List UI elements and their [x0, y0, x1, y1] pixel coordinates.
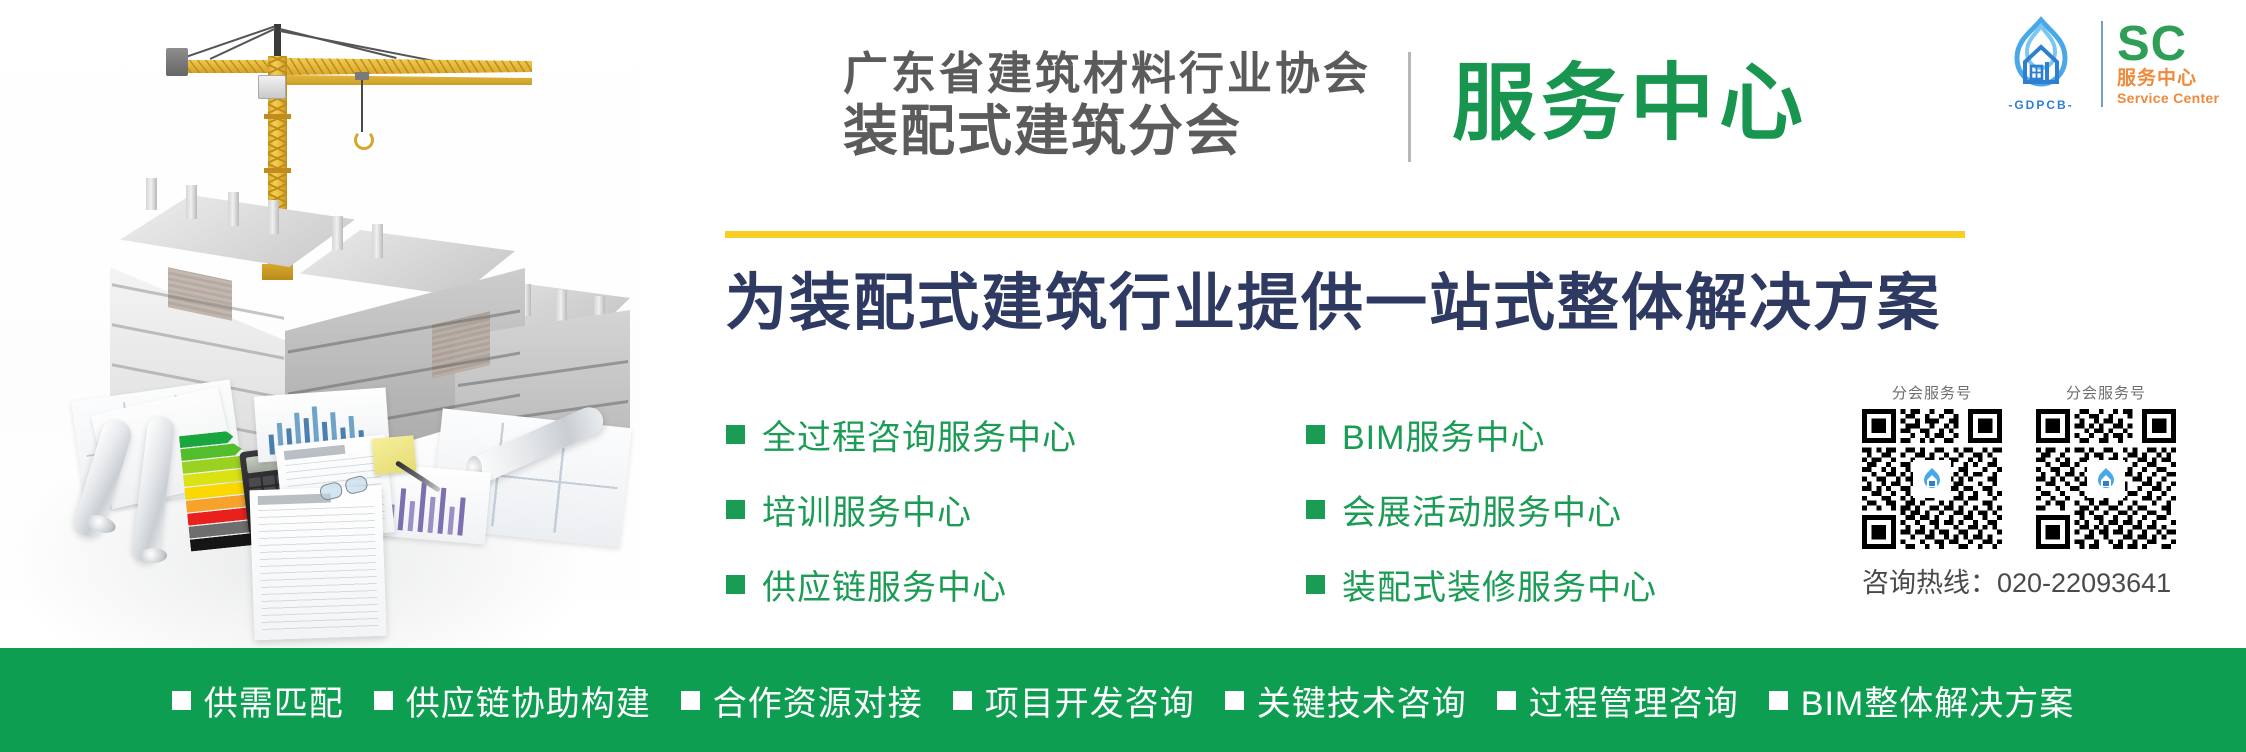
bottom-bar-item[interactable]: 供需匹配	[172, 676, 344, 725]
application-form-front	[249, 486, 386, 641]
logo-divider	[2101, 21, 2103, 107]
crane-trolley	[355, 72, 369, 80]
building-column	[146, 178, 157, 210]
bullet-square-icon	[1225, 691, 1244, 710]
chart-bar	[447, 506, 454, 534]
bottom-bar-label: 供应链协助构建	[406, 676, 651, 725]
crane-jib-lower-chord	[286, 75, 532, 85]
hotline-text: 咨询热线：020-22093641	[1862, 561, 2202, 600]
building-column	[332, 216, 343, 250]
qr-code-block: 分会服务号	[1862, 382, 2202, 600]
bullet-square-icon	[681, 691, 700, 710]
bottom-bar-label: 过程管理咨询	[1529, 676, 1739, 725]
service-item[interactable]: 培训服务中心	[726, 485, 1077, 534]
association-branch: 装配式建筑分会	[843, 100, 1353, 162]
service-item[interactable]: 全过程咨询服务中心	[726, 410, 1077, 459]
bullet-square-icon	[374, 691, 393, 710]
chart-bar	[418, 482, 427, 532]
crane-hook	[354, 130, 374, 150]
qr-code-cell[interactable]: 分会服务号	[1862, 382, 2002, 549]
gdpcb-mini-logo-icon	[1919, 466, 1945, 492]
building-column	[556, 290, 567, 322]
bottom-bar-label: 合作资源对接	[713, 676, 923, 725]
service-item[interactable]: 装配式装修服务中心	[1306, 560, 1657, 609]
crane-operator-cab	[258, 75, 286, 99]
bullet-square-icon	[1306, 425, 1325, 444]
association-title-block: 广东省建筑材料行业协会 装配式建筑分会	[843, 48, 1353, 162]
qr-code-row: 分会服务号	[1862, 382, 2202, 549]
building-column	[228, 192, 239, 226]
chart-bar	[427, 497, 435, 533]
bullet-square-icon	[172, 691, 191, 710]
bullet-square-icon	[726, 575, 745, 594]
gdpcb-wordmark: -GDPCB-	[1995, 98, 2087, 112]
service-list-right: BIM服务中心 会展活动服务中心 装配式装修服务中心	[1306, 410, 1657, 609]
service-item-label: BIM服务中心	[1342, 410, 1545, 459]
building-column	[268, 200, 279, 234]
form-heading	[258, 494, 331, 506]
qr-center-logo	[1913, 460, 1951, 498]
bullet-square-icon	[1497, 691, 1516, 710]
service-item-label: 装配式装修服务中心	[1342, 560, 1657, 609]
hero-construction-image	[0, 0, 640, 648]
qr-center-logo	[2087, 460, 2125, 498]
sc-logo-text-block: SC 服务中心 Service Center	[2117, 21, 2219, 107]
chart-bar	[437, 488, 446, 534]
qr-code-cell[interactable]: 分会服务号	[2036, 382, 2176, 549]
bottom-bar-item[interactable]: BIM整体解决方案	[1769, 676, 2074, 725]
bullet-square-icon	[726, 500, 745, 519]
gdpcb-logo-icon: -GDPCB-	[1995, 16, 2087, 112]
service-center-title: 服务中心	[1452, 48, 1808, 158]
service-item[interactable]: 供应链服务中心	[726, 560, 1077, 609]
bottom-bar-label: 项目开发咨询	[985, 676, 1195, 725]
chart-bar	[269, 434, 275, 454]
banner-root: 广东省建筑材料行业协会 装配式建筑分会 服务中心 为装配式建筑行业提供一站式整体…	[0, 0, 2246, 752]
bottom-bar-item[interactable]: 过程管理咨询	[1497, 676, 1739, 725]
brand-logo[interactable]: -GDPCB- SC 服务中心 Service Center	[1995, 14, 2219, 114]
bullet-square-icon	[726, 425, 745, 444]
chart-bar	[398, 488, 407, 530]
crane-mast-band-2	[264, 168, 291, 173]
chart-bar	[408, 501, 416, 531]
service-list-left: 全过程咨询服务中心 培训服务中心 供应链服务中心	[726, 410, 1077, 609]
building-column	[186, 185, 197, 219]
sc-english-label: Service Center	[2117, 90, 2219, 107]
crane-counterweight	[166, 48, 188, 76]
bottom-bar-item[interactable]: 合作资源对接	[681, 676, 923, 725]
bullet-square-icon	[1306, 500, 1325, 519]
service-item-label: 供应链服务中心	[762, 560, 1007, 609]
bar-chart-paper-purple	[375, 463, 491, 544]
service-item-label: 培训服务中心	[762, 485, 972, 534]
chart-bar	[457, 497, 465, 535]
blueprint-roll-2-end	[140, 548, 167, 563]
service-item-label: 会展活动服务中心	[1342, 485, 1622, 534]
bottom-bar-label: 供需匹配	[204, 676, 344, 725]
sc-chinese-label: 服务中心	[2117, 67, 2197, 90]
crane-cable	[361, 80, 363, 132]
bottom-bar-item[interactable]: 供应链协助构建	[374, 676, 651, 725]
crane-tie-back	[180, 25, 275, 59]
crane-jib	[286, 58, 532, 75]
gdpcb-flame-house-icon	[1995, 16, 2087, 102]
association-name: 广东省建筑材料行业协会	[843, 48, 1353, 100]
gdpcb-mini-logo-icon	[2093, 466, 2119, 492]
bullet-square-icon	[1306, 575, 1325, 594]
qr-code-caption: 分会服务号	[2036, 382, 2176, 403]
building-column	[372, 224, 383, 258]
yellow-divider-rule	[725, 231, 1965, 238]
service-item[interactable]: BIM服务中心	[1306, 410, 1657, 459]
bottom-feature-bar: 供需匹配 供应链协助构建 合作资源对接 项目开发咨询 关键技术咨询 过程管理咨询…	[0, 648, 2246, 752]
main-slogan: 为装配式建筑行业提供一站式整体解决方案	[725, 252, 1941, 342]
sc-initials: SC	[2117, 21, 2187, 67]
qr-code-caption: 分会服务号	[1862, 382, 2002, 403]
bullet-square-icon	[1769, 691, 1788, 710]
bottom-bar-label: 关键技术咨询	[1257, 676, 1467, 725]
form-heading	[284, 445, 345, 460]
service-item[interactable]: 会展活动服务中心	[1306, 485, 1657, 534]
qr-code-image[interactable]	[2036, 409, 2176, 549]
bottom-bar-item[interactable]: 关键技术咨询	[1225, 676, 1467, 725]
title-divider	[1408, 52, 1411, 162]
bottom-bar-item[interactable]: 项目开发咨询	[953, 676, 1195, 725]
service-item-label: 全过程咨询服务中心	[762, 410, 1077, 459]
crane-mast-band-1	[264, 114, 291, 119]
bottom-bar-label: BIM整体解决方案	[1801, 676, 2074, 725]
qr-code-image[interactable]	[1862, 409, 2002, 549]
bullet-square-icon	[953, 691, 972, 710]
